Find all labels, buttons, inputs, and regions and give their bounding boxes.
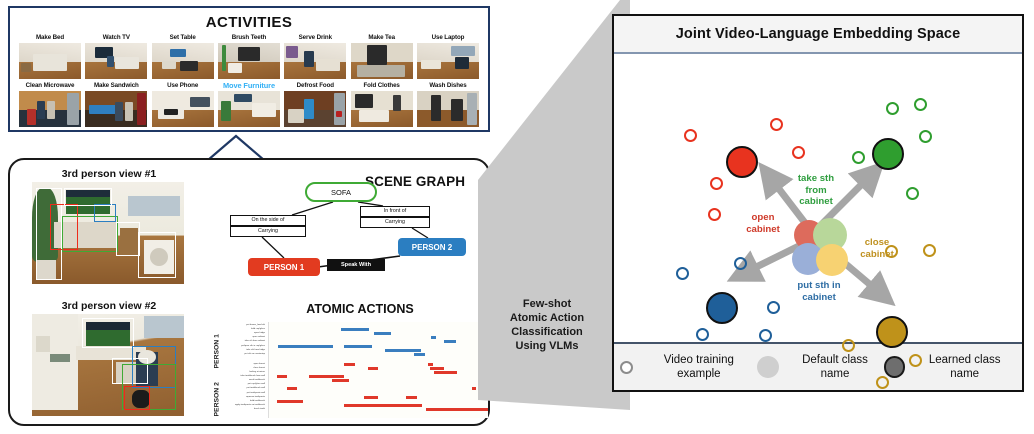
activity-label: Make Sandwich bbox=[85, 82, 147, 90]
activity-thumbnail[interactable] bbox=[351, 43, 413, 79]
chart-tick-label: put toothbrush wall bbox=[210, 387, 265, 389]
third-person-view-2-image[interactable] bbox=[32, 314, 184, 416]
embedding-canvas: take sth from cabinet open cabinet close… bbox=[614, 54, 1022, 342]
activity-label: Brush Teeth bbox=[218, 34, 280, 42]
activities-title: ACTIVITIES bbox=[10, 14, 488, 31]
training-example-ring-blue bbox=[676, 267, 689, 280]
chart-tick-label: take sth from fridge bbox=[210, 349, 265, 351]
training-example-ring-green bbox=[914, 98, 927, 111]
learned-class-dot-gold[interactable] bbox=[876, 316, 908, 348]
wedge-line: Atomic Action bbox=[495, 311, 599, 325]
activity-label: Watch TV bbox=[85, 34, 147, 42]
chart-tick-label: hold toothbrush bbox=[210, 400, 265, 402]
label-put-sth-in-cabinet: put sth in cabinet bbox=[771, 280, 867, 303]
activity-thumbnail[interactable] bbox=[85, 91, 147, 127]
activity-thumbnail[interactable] bbox=[85, 43, 147, 79]
legend-item-default-class-name: Default class name bbox=[757, 353, 884, 381]
chart-tick-label: brush teeth bbox=[210, 408, 265, 410]
activity-thumbnail[interactable] bbox=[351, 91, 413, 127]
activity-cell[interactable]: Make Sandwich bbox=[85, 82, 147, 127]
activity-cell[interactable]: Fold Clothes bbox=[351, 82, 413, 127]
activity-thumbnail[interactable] bbox=[218, 43, 280, 79]
chart-bar bbox=[287, 387, 297, 390]
activity-thumbnail[interactable] bbox=[218, 91, 280, 127]
training-example-ring-gold bbox=[923, 244, 936, 257]
wedge-label: Few-shot Atomic Action Classification Us… bbox=[495, 297, 599, 353]
bbox-red bbox=[124, 386, 150, 410]
chart-bar bbox=[344, 345, 373, 348]
training-example-ring-green bbox=[886, 102, 899, 115]
training-example-ring-red bbox=[710, 177, 723, 190]
bbox-white bbox=[116, 222, 140, 256]
activity-label-highlighted: Move Furniture bbox=[218, 82, 280, 90]
training-example-ring-green bbox=[906, 187, 919, 200]
bbox-white bbox=[138, 232, 176, 278]
chart-bar bbox=[278, 345, 333, 348]
activity-cell[interactable]: Use Phone bbox=[152, 82, 214, 127]
chart-bar bbox=[277, 400, 303, 403]
chart-tick-label: apply toothpaste on toothbrush bbox=[210, 404, 265, 406]
scene-graph-panel: 3rd person view #1 3rd person view #2 bbox=[8, 158, 490, 426]
chart-bar bbox=[309, 375, 344, 378]
activity-cell[interactable]: Serve Drink bbox=[284, 34, 346, 79]
activity-cell[interactable]: Defrost Food bbox=[284, 82, 346, 127]
activity-thumbnail[interactable] bbox=[284, 43, 346, 79]
figure-root: ACTIVITIES Make Bed Watch TV bbox=[0, 0, 1034, 434]
embedding-legend: Video training example Default class nam… bbox=[614, 342, 1022, 390]
chart-tick-label: squeeze toothpaste bbox=[210, 396, 265, 398]
training-example-ring-red bbox=[792, 146, 805, 159]
wedge-line: Few-shot bbox=[495, 297, 599, 311]
view1-title: 3rd person view #1 bbox=[24, 168, 194, 180]
activity-thumbnail[interactable] bbox=[152, 91, 214, 127]
relation-carrying-right: Carrying bbox=[360, 217, 430, 228]
legend-label: Default class name bbox=[787, 353, 884, 381]
activity-cell[interactable]: Clean Microwave bbox=[19, 82, 81, 127]
activity-cell[interactable]: Set Table bbox=[152, 34, 214, 79]
activity-cell[interactable]: Brush Teeth bbox=[218, 34, 280, 79]
training-example-ring-gold bbox=[876, 376, 889, 389]
chart-bar bbox=[444, 340, 456, 343]
chart-bar bbox=[344, 404, 422, 407]
activity-cell[interactable]: Make Tea bbox=[351, 34, 413, 79]
learned-class-dot-red[interactable] bbox=[726, 146, 758, 178]
activity-thumbnail[interactable] bbox=[19, 91, 81, 127]
scene-node-sofa[interactable]: SOFA bbox=[305, 182, 377, 202]
chart-bar bbox=[414, 353, 425, 356]
relation-in-front-of: In front of bbox=[360, 206, 430, 217]
activities-row-2: Clean Microwave Make Sandwich bbox=[10, 82, 488, 127]
training-example-ring-green bbox=[919, 130, 932, 143]
default-class-dot-gold[interactable] bbox=[816, 244, 848, 276]
activity-label: Clean Microwave bbox=[19, 82, 81, 90]
wedge-line: Classification bbox=[495, 325, 599, 339]
activity-label: Serve Drink bbox=[284, 34, 346, 42]
relation-speak-with: Speak With bbox=[327, 259, 385, 271]
activity-label: Set Table bbox=[152, 34, 214, 42]
chart-bar bbox=[434, 371, 457, 374]
atomic-actions-title: ATOMIC ACTIONS bbox=[260, 302, 460, 316]
chart-bar bbox=[385, 349, 421, 352]
pale-dot-marker-icon bbox=[757, 356, 779, 378]
chart-tick-label: take toothbrush from wall bbox=[210, 375, 265, 377]
activities-row-1: Make Bed Watch TV Set Table bbox=[10, 34, 488, 79]
activity-label: Make Bed bbox=[19, 34, 81, 42]
learned-class-dot-blue[interactable] bbox=[706, 292, 738, 324]
relation-on-the-side-of: On the side of bbox=[230, 215, 306, 226]
training-example-ring-gold bbox=[842, 339, 855, 352]
training-example-ring-gold bbox=[909, 354, 922, 367]
chart-tick-label: wash toothbrush bbox=[210, 379, 265, 381]
activities-panel: ACTIVITIES Make Bed Watch TV bbox=[8, 6, 490, 132]
chart-bar bbox=[428, 363, 434, 366]
chart-tick-label: hold cup/glass bbox=[210, 328, 265, 330]
scene-node-person2[interactable]: PERSON 2 bbox=[398, 238, 466, 256]
activity-label: Defrost Food bbox=[284, 82, 346, 90]
training-example-ring-blue bbox=[734, 257, 747, 270]
view2-title: 3rd person view #2 bbox=[24, 300, 194, 312]
chart-bar bbox=[368, 367, 378, 370]
third-person-view-1-image[interactable] bbox=[32, 182, 184, 284]
activity-label: Make Tea bbox=[351, 34, 413, 42]
training-example-ring-blue bbox=[759, 329, 772, 342]
activity-cell[interactable]: Watch TV bbox=[85, 34, 147, 79]
activity-thumbnail[interactable] bbox=[152, 43, 214, 79]
chart-bar bbox=[406, 396, 417, 399]
embedding-space-panel: Joint Video-Language Embedding Space bbox=[612, 14, 1024, 392]
legend-item-video-training-example: Video training example bbox=[620, 353, 757, 381]
chart-tick-label: open cabinet bbox=[210, 336, 265, 338]
legend-item-learned-class-name: Learned class name bbox=[884, 353, 1017, 381]
chart-bar bbox=[277, 375, 287, 378]
label-close-cabinet: close cabinet bbox=[846, 237, 908, 260]
chart-bar bbox=[374, 332, 392, 335]
embedding-title: Joint Video-Language Embedding Space bbox=[676, 26, 961, 42]
training-example-ring-red bbox=[770, 118, 783, 131]
chart-tick-label: put/pour sth in cup/glass bbox=[210, 345, 265, 347]
bbox-blue bbox=[94, 204, 116, 222]
chart-tick-label: put sth on countertop bbox=[210, 353, 265, 355]
ring-marker-icon bbox=[620, 361, 633, 374]
chart-tick-label: open fridge bbox=[210, 332, 265, 334]
process-wedge bbox=[470, 0, 630, 434]
activity-cell[interactable]: Make Bed bbox=[19, 34, 81, 79]
learned-class-dot-green[interactable] bbox=[872, 138, 904, 170]
activity-label: Use Phone bbox=[152, 82, 214, 90]
chart-bar bbox=[341, 328, 370, 331]
activity-cell[interactable]: Move Furniture bbox=[218, 82, 280, 127]
dark-dot-marker-icon bbox=[884, 356, 906, 378]
chart-bar bbox=[332, 379, 350, 382]
chart-bar bbox=[364, 396, 378, 399]
chart-tick-label: close faucet bbox=[210, 367, 265, 369]
legend-label: Learned class name bbox=[913, 353, 1016, 381]
chart-tick-label: take sth from cabinet bbox=[210, 340, 265, 342]
legend-label: Video training example bbox=[641, 353, 757, 381]
bbox-white bbox=[64, 188, 112, 206]
bbox-white bbox=[82, 318, 134, 348]
label-take-sth-from-cabinet: take sth from cabinet bbox=[781, 173, 851, 208]
atomic-actions-chart: PERSON 1 PERSON 2 put frozen_food sthhol… bbox=[210, 320, 488, 420]
label-open-cabinet: open cabinet bbox=[732, 212, 794, 235]
training-example-ring-red bbox=[708, 208, 721, 221]
training-example-ring-blue bbox=[696, 328, 709, 341]
activity-thumbnail[interactable] bbox=[19, 43, 81, 79]
scene-node-person1[interactable]: PERSON 1 bbox=[248, 258, 320, 276]
chart-tick-label: put frozen_food sth bbox=[210, 324, 265, 326]
scene-graph-area: SOFA On the side of Carrying In front of… bbox=[200, 168, 490, 288]
embedding-header: Joint Video-Language Embedding Space bbox=[614, 16, 1022, 54]
chart-tick-label: put toothpaste wall bbox=[210, 392, 265, 394]
chart-bar bbox=[344, 363, 355, 366]
chart-bar bbox=[430, 367, 444, 370]
training-example-ring-green bbox=[852, 151, 865, 164]
wedge-line: Using VLMs bbox=[495, 339, 599, 353]
activity-label: Fold Clothes bbox=[351, 82, 413, 90]
chart-tick-label: looking at mirror bbox=[210, 371, 265, 373]
chart-bar bbox=[431, 336, 437, 339]
chart-tick-label: open faucet bbox=[210, 363, 265, 365]
relation-carrying-left: Carrying bbox=[230, 226, 306, 237]
chart-tick-label: put cup/glass wall bbox=[210, 383, 265, 385]
activity-thumbnail[interactable] bbox=[284, 91, 346, 127]
training-example-ring-red bbox=[684, 129, 697, 142]
